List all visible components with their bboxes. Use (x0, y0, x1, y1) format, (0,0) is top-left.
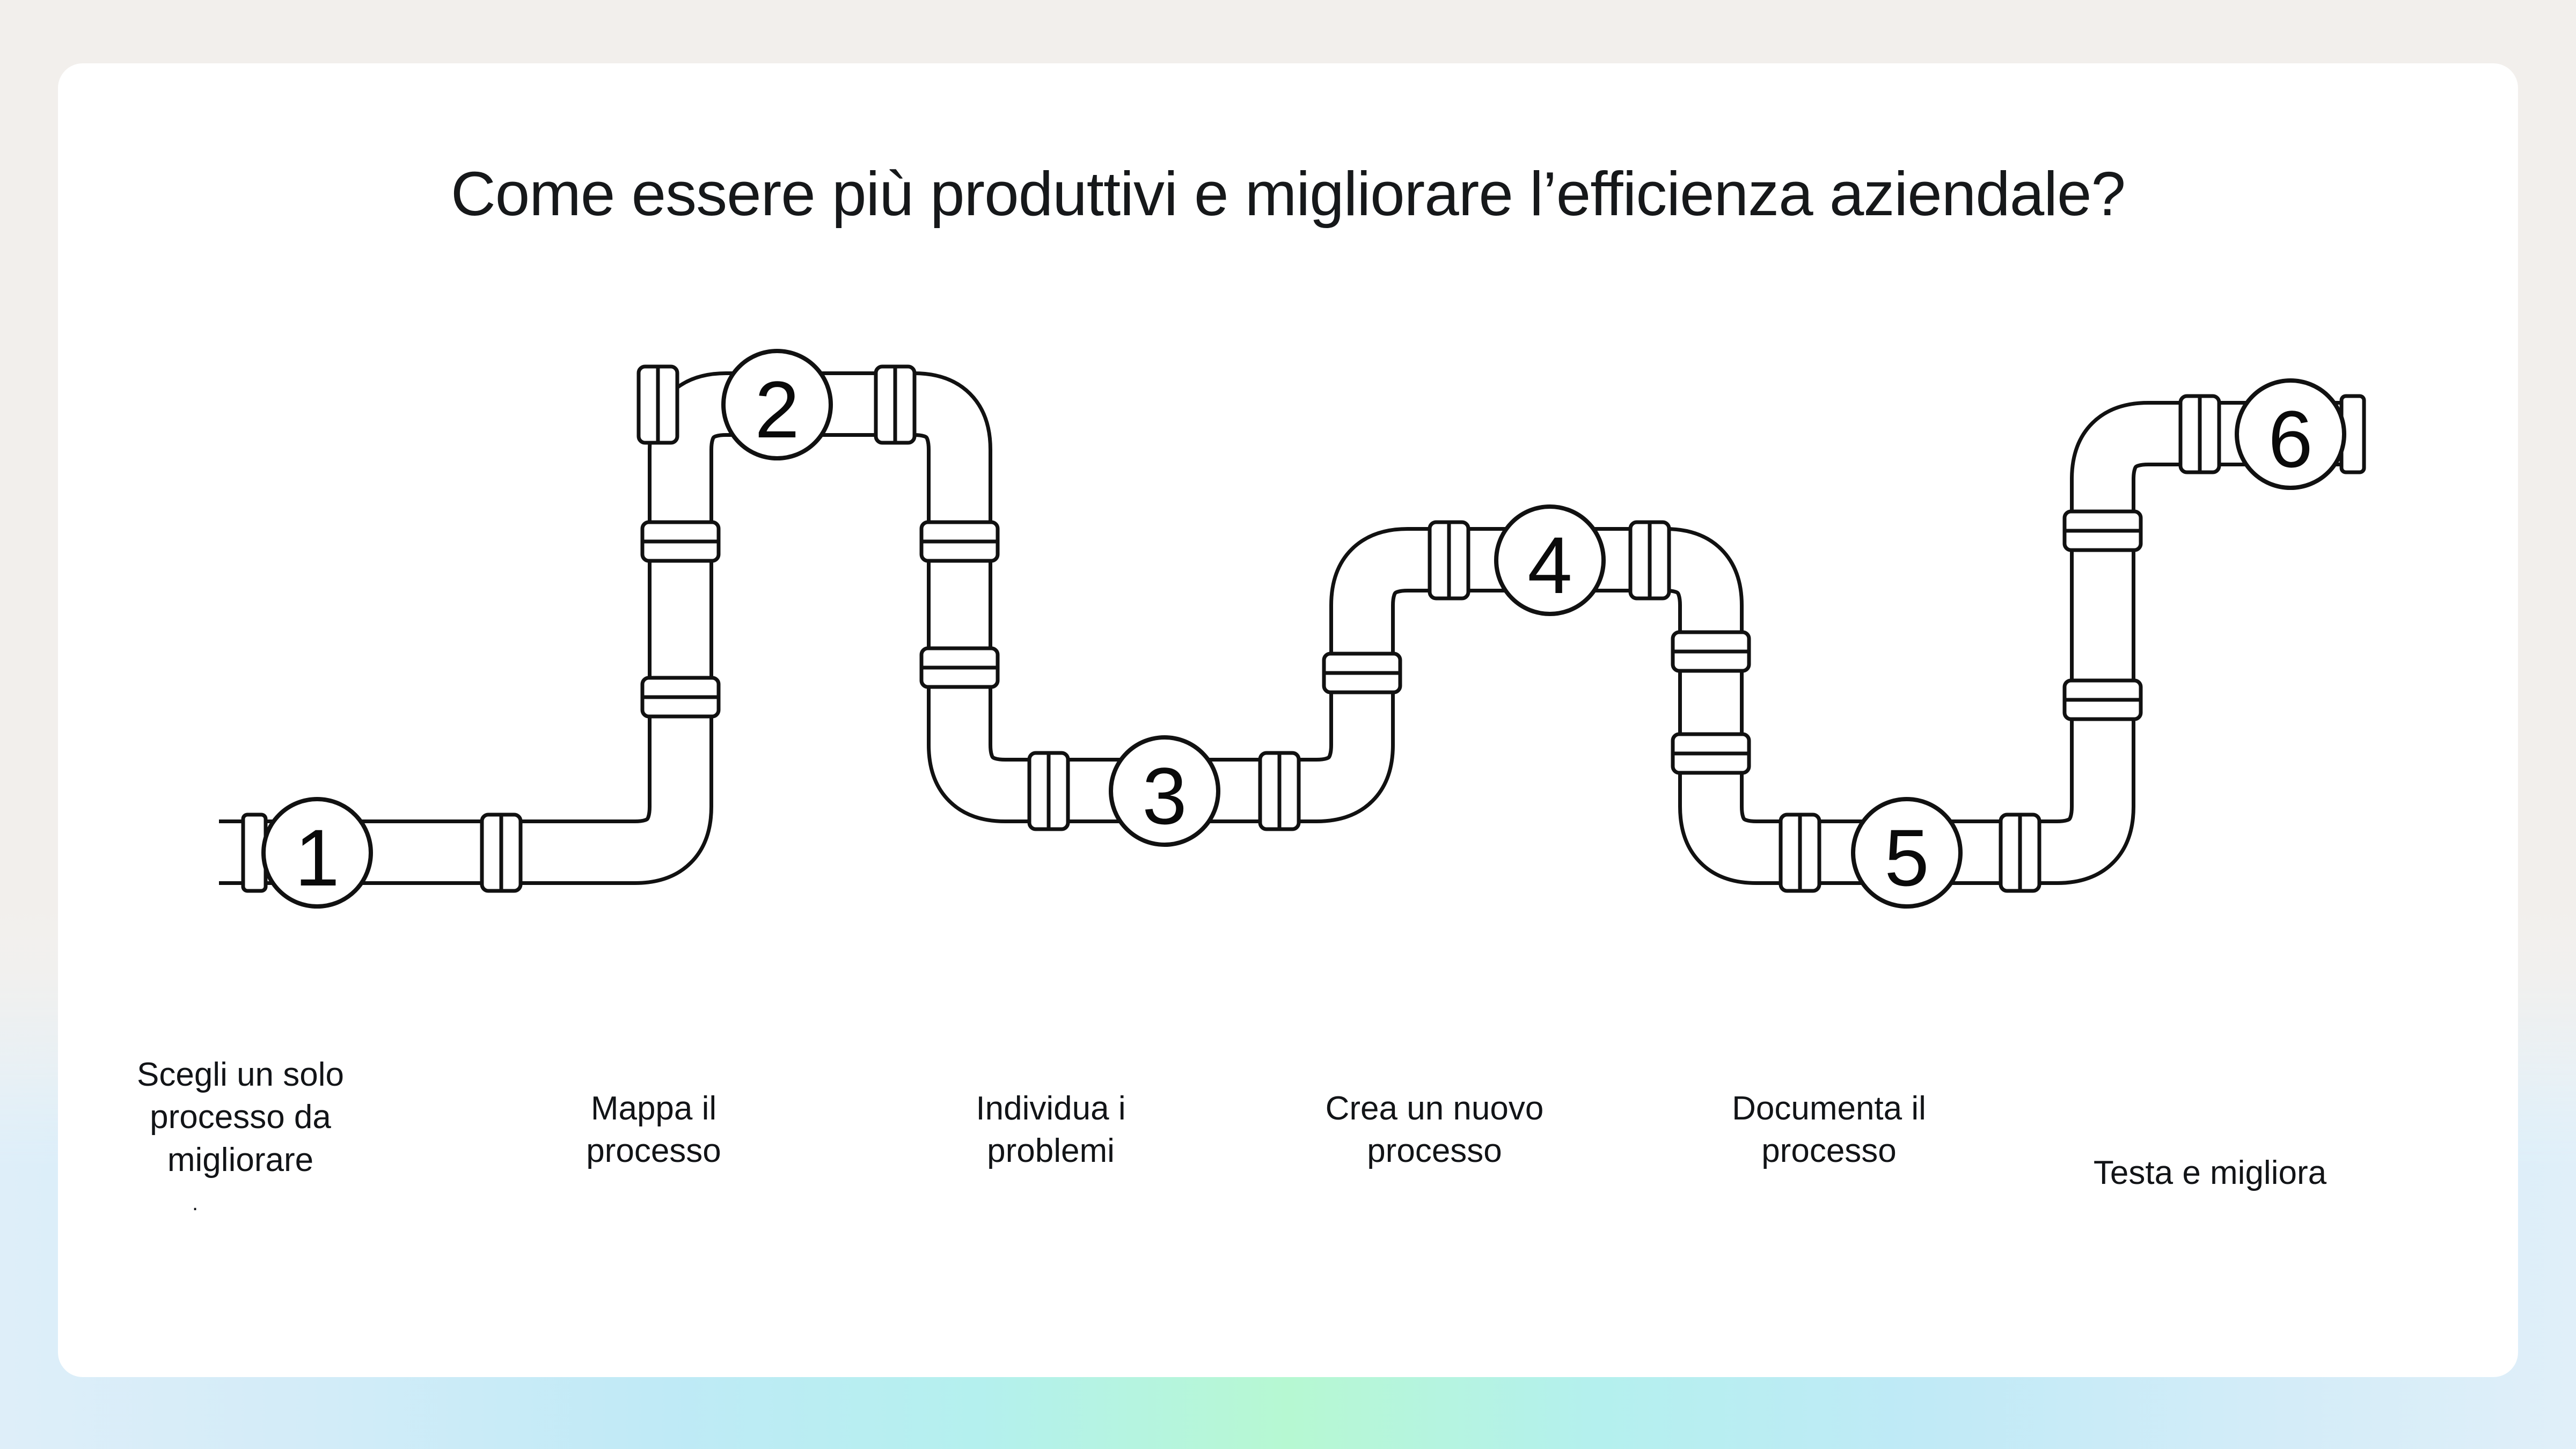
step-number-4: 4 (1527, 520, 1572, 610)
coupling-h-5l (1781, 815, 1819, 891)
coupling-h-1r (482, 815, 521, 891)
step-number-3: 3 (1142, 751, 1187, 841)
coupling-v-d1 (1673, 632, 1749, 671)
step-number-2: 2 (755, 364, 799, 455)
step-number-1: 1 (295, 813, 339, 903)
pipe-process-diagram: .pipe{fill:#ffffff;stroke:#111111;stroke… (58, 63, 2518, 1377)
step-number-5: 5 (1884, 813, 1929, 903)
coupling-v-e1 (2065, 511, 2141, 550)
coupling-v-d2 (1673, 734, 1749, 773)
step-node-6[interactable]: 6 (2237, 380, 2344, 488)
coupling-h-2l (639, 367, 677, 443)
step-node-5[interactable]: 5 (1853, 799, 1960, 906)
step-node-2[interactable]: 2 (723, 351, 831, 458)
step-node-3[interactable]: 3 (1111, 737, 1218, 845)
coupling-v-e2 (2065, 680, 2141, 719)
coupling-v-b2 (921, 648, 998, 687)
coupling-h-4r (1630, 522, 1669, 598)
step-node-4[interactable]: 4 (1496, 507, 1604, 614)
slide-card: Come essere più produttivi e migliorare … (58, 63, 2518, 1377)
coupling-v-a1 (642, 522, 719, 561)
step-node-1[interactable]: 1 (264, 799, 371, 906)
coupling-v-a2 (642, 678, 719, 716)
coupling-h-2r (876, 367, 914, 443)
coupling-h-4l (1430, 522, 1468, 598)
coupling-h-3l (1029, 753, 1068, 829)
coupling-v-c1 (1324, 654, 1400, 692)
step-number-6: 6 (2268, 394, 2312, 484)
coupling-h-6l (2180, 396, 2219, 472)
coupling-h-5r (2001, 815, 2039, 891)
coupling-v-b1 (921, 522, 998, 561)
coupling-h-3r (1260, 753, 1299, 829)
